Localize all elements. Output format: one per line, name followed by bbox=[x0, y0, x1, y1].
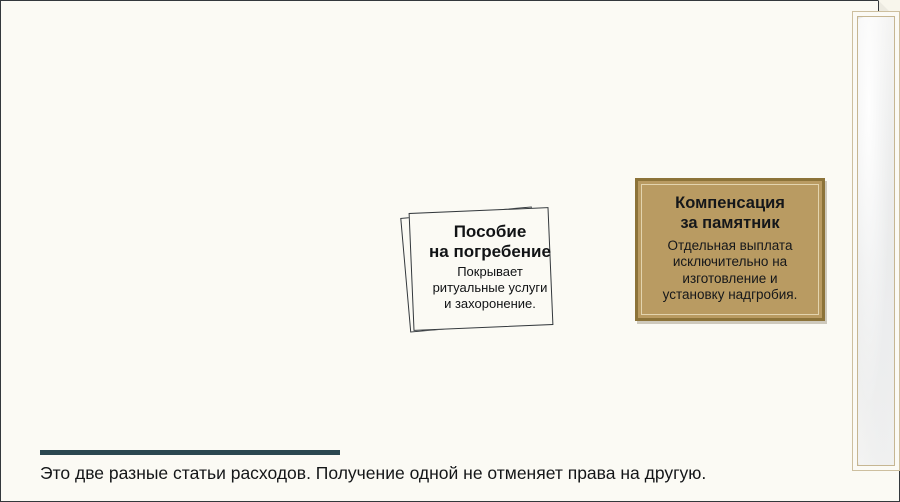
document-sheet-front bbox=[0, 0, 152, 118]
monument-compensation-inner: Компенсация за памятник Отдельная выплат… bbox=[641, 184, 819, 315]
footer-caption: Это две разные статьи расходов. Получени… bbox=[40, 463, 706, 484]
burial-allowance-card: Пособие на погребение Покрывает ритуальн… bbox=[414, 222, 566, 311]
monument-compensation-title: Компенсация за памятник bbox=[650, 194, 810, 234]
monument-compensation-description: Отдельная выплата исключительно на изгот… bbox=[650, 238, 810, 304]
footer-divider bbox=[40, 450, 340, 455]
monument-compensation-card: Компенсация за памятник Отдельная выплат… bbox=[635, 178, 825, 321]
slide-canvas: Законодательный фундамент Постановление … bbox=[0, 0, 900, 502]
burial-allowance-description: Покрывает ритуальные услуги и захоронени… bbox=[414, 264, 566, 311]
marble-texture-pane bbox=[857, 16, 895, 466]
marble-frame-decoration bbox=[852, 11, 900, 471]
burial-allowance-title: Пособие на погребение bbox=[414, 222, 566, 261]
